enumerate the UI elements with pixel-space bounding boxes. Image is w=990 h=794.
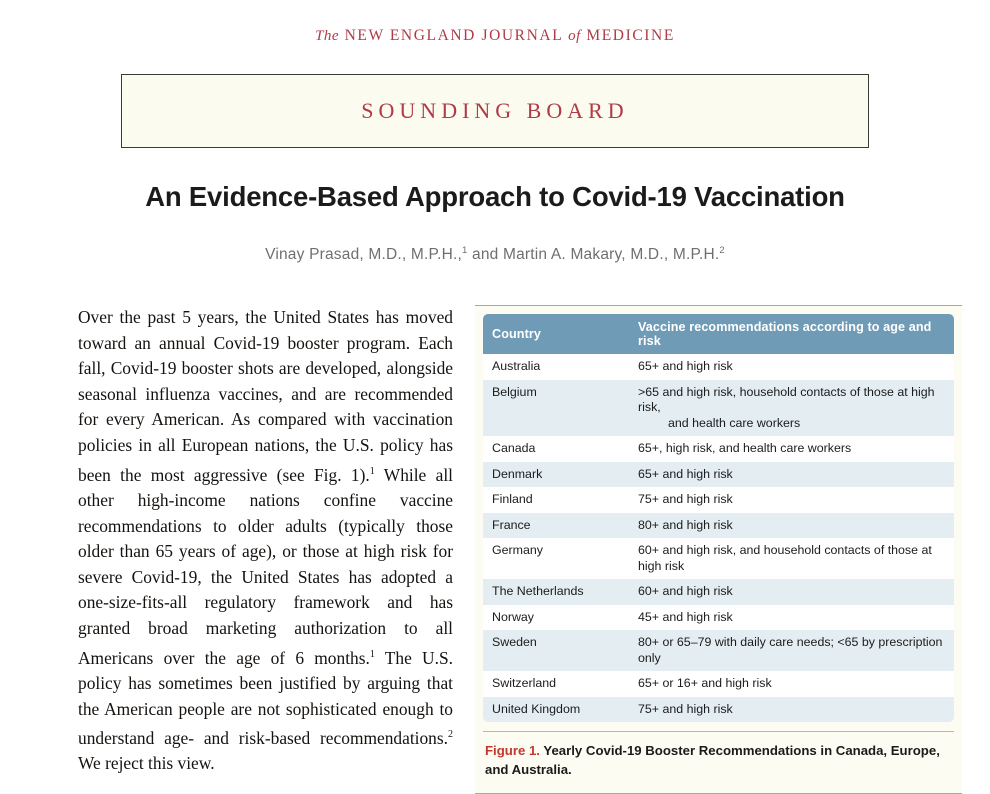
page-title: An Evidence-Based Approach to Covid-19 V… xyxy=(0,181,990,213)
cell-country: Switzerland xyxy=(483,671,629,697)
vaccine-recommendations-table: Country Vaccine recommendations accordin… xyxy=(483,314,954,722)
cell-country: United Kingdom xyxy=(483,697,629,723)
cell-recommendation: 75+ and high risk xyxy=(629,487,954,513)
table-row: The Netherlands 60+ and high risk xyxy=(483,579,954,605)
author-joiner: and Martin A. Makary, M.D., M.P.H. xyxy=(468,246,720,263)
cell-recommendation: 80+ and high risk xyxy=(629,513,954,539)
body-column: Over the past 5 years, the United States… xyxy=(78,305,453,722)
figure-column: Country Vaccine recommendations accordin… xyxy=(475,305,968,722)
figure-caption: Figure 1. Yearly Covid-19 Booster Recomm… xyxy=(483,732,954,793)
table-row: Canada 65+, high risk, and health care w… xyxy=(483,436,954,462)
cell-recommendation: 60+ and high risk xyxy=(629,579,954,605)
cell-recommendation: 45+ and high risk xyxy=(629,605,954,631)
cell-country: Finland xyxy=(483,487,629,513)
table-body: Australia 65+ and high risk Belgium >65 … xyxy=(483,354,954,722)
masthead-title-part2: MEDICINE xyxy=(586,27,675,44)
cell-recommendation: 75+ and high risk xyxy=(629,697,954,723)
author-one: Vinay Prasad, M.D., M.P.H., xyxy=(265,246,462,263)
table-header-row: Country Vaccine recommendations accordin… xyxy=(483,314,954,354)
table-row: France 80+ and high risk xyxy=(483,513,954,539)
cell-recommendation: 65+ or 16+ and high risk xyxy=(629,671,954,697)
cell-recommendation: 65+, high risk, and health care workers xyxy=(629,436,954,462)
journal-masthead: The NEW ENGLAND JOURNAL of MEDICINE xyxy=(0,0,990,45)
table-row: Denmark 65+ and high risk xyxy=(483,462,954,488)
author-two-affiliation-ref: 2 xyxy=(719,245,724,256)
table-row: Norway 45+ and high risk xyxy=(483,605,954,631)
column-header-country: Country xyxy=(483,314,629,354)
masthead-title-part1: NEW ENGLAND JOURNAL xyxy=(345,27,563,44)
opening-paragraph: Over the past 5 years, the United States… xyxy=(78,305,453,777)
cell-country: The Netherlands xyxy=(483,579,629,605)
cell-recommendation: 80+ or 65–79 with daily care needs; <65 … xyxy=(629,630,954,671)
figure-number: Figure 1. xyxy=(485,743,540,758)
cell-country: Norway xyxy=(483,605,629,631)
cell-recommendation: 65+ and high risk xyxy=(629,354,954,380)
banner-label: SOUNDING BOARD xyxy=(361,98,628,124)
cell-country: Denmark xyxy=(483,462,629,488)
cell-recommendation: >65 and high risk, household contacts of… xyxy=(629,380,954,437)
table-row: Finland 75+ and high risk xyxy=(483,487,954,513)
cell-country: Germany xyxy=(483,538,629,579)
figure-1: Country Vaccine recommendations accordin… xyxy=(475,305,962,794)
cell-recommendation-line2: and health care workers xyxy=(638,416,950,432)
paragraph-segment-2: While all other high-income nations conf… xyxy=(78,464,453,667)
masthead-of: of xyxy=(568,28,581,44)
table-row: Sweden 80+ or 65–79 with daily care need… xyxy=(483,630,954,671)
table-row: Germany 60+ and high risk, and household… xyxy=(483,538,954,579)
citation-ref-3: 2 xyxy=(448,729,453,740)
cell-country: Sweden xyxy=(483,630,629,671)
cell-country: Australia xyxy=(483,354,629,380)
table-row: United Kingdom 75+ and high risk xyxy=(483,697,954,723)
paragraph-segment-4: We reject this view. xyxy=(78,753,215,773)
cell-recommendation-line1: >65 and high risk, household contacts of… xyxy=(638,385,935,415)
figure-caption-text: Yearly Covid-19 Booster Recommendations … xyxy=(485,743,940,777)
author-byline: Vinay Prasad, M.D., M.P.H.,1 and Martin … xyxy=(0,245,990,264)
table-row: Belgium >65 and high risk, household con… xyxy=(483,380,954,437)
cell-recommendation: 65+ and high risk xyxy=(629,462,954,488)
cell-country: Canada xyxy=(483,436,629,462)
column-header-recommendation: Vaccine recommendations according to age… xyxy=(629,314,954,354)
paragraph-segment-1: Over the past 5 years, the United States… xyxy=(78,307,453,484)
masthead-the: The xyxy=(315,28,339,44)
sounding-board-banner: SOUNDING BOARD xyxy=(121,74,869,148)
cell-country: Belgium xyxy=(483,380,629,437)
cell-recommendation: 60+ and high risk, and household contact… xyxy=(629,538,954,579)
cell-country: France xyxy=(483,513,629,539)
table-row: Australia 65+ and high risk xyxy=(483,354,954,380)
table-row: Switzerland 65+ or 16+ and high risk xyxy=(483,671,954,697)
article-content: Over the past 5 years, the United States… xyxy=(0,305,990,722)
